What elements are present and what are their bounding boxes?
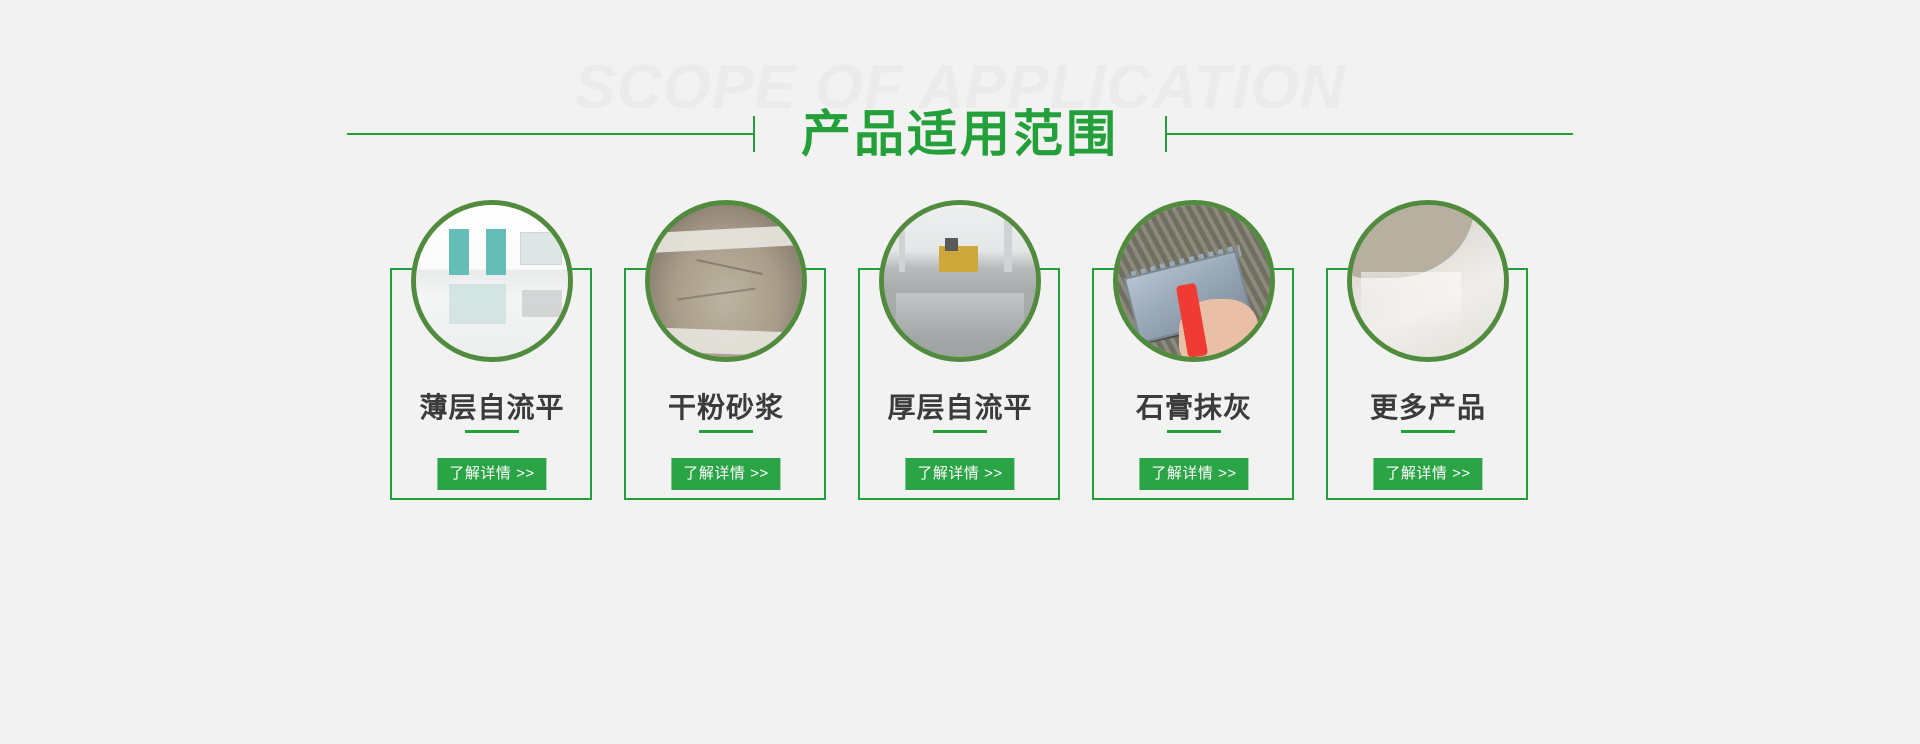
card-label: 薄层自流平 xyxy=(390,386,594,426)
card-label-underline xyxy=(465,430,519,433)
product-card[interactable]: 薄层自流平 了解详情 >> xyxy=(390,200,594,502)
card-label: 干粉砂浆 xyxy=(624,386,828,426)
product-card[interactable]: 石膏抹灰 了解详情 >> xyxy=(1092,200,1296,502)
title-row: 产品适用范围 xyxy=(0,98,1920,170)
page-title: 产品适用范围 xyxy=(755,109,1165,159)
thick-layer-warehouse-floor-photo xyxy=(884,205,1036,357)
learn-more-button[interactable]: 了解详情 >> xyxy=(905,458,1014,490)
card-label-underline xyxy=(1401,430,1455,433)
dry-powder-mortar-pile-photo xyxy=(650,205,802,357)
card-label-underline xyxy=(699,430,753,433)
title-tick-right xyxy=(1165,116,1167,152)
learn-more-button[interactable]: 了解详情 >> xyxy=(671,458,780,490)
gypsum-plaster-notched-trowel-photo xyxy=(1118,205,1270,357)
section-header: SCOPE OF APPLICATION 产品适用范围 xyxy=(0,0,1920,210)
card-label-underline xyxy=(1167,430,1221,433)
product-card[interactable]: 更多产品 了解详情 >> xyxy=(1326,200,1530,502)
card-image-circle xyxy=(645,200,807,362)
thin-layer-self-leveling-floor-photo xyxy=(416,205,568,357)
card-label: 厚层自流平 xyxy=(858,386,1062,426)
card-image-circle xyxy=(411,200,573,362)
card-label-underline xyxy=(933,430,987,433)
card-image-circle xyxy=(879,200,1041,362)
card-image-circle xyxy=(1113,200,1275,362)
title-rule-left xyxy=(347,133,755,135)
learn-more-button[interactable]: 了解详情 >> xyxy=(437,458,546,490)
card-label: 更多产品 xyxy=(1326,386,1530,426)
more-products-smooth-surface-photo xyxy=(1352,205,1504,357)
title-rule-right xyxy=(1165,133,1573,135)
product-card-list: 薄层自流平 了解详情 >> 干粉砂浆 了解详情 >> 厚层自流平 了解详情 >> xyxy=(0,200,1920,502)
learn-more-button[interactable]: 了解详情 >> xyxy=(1139,458,1248,490)
card-image-circle xyxy=(1347,200,1509,362)
product-card[interactable]: 干粉砂浆 了解详情 >> xyxy=(624,200,828,502)
product-card[interactable]: 厚层自流平 了解详情 >> xyxy=(858,200,1062,502)
title-tick-left xyxy=(753,116,755,152)
card-label: 石膏抹灰 xyxy=(1092,386,1296,426)
learn-more-button[interactable]: 了解详情 >> xyxy=(1373,458,1482,490)
